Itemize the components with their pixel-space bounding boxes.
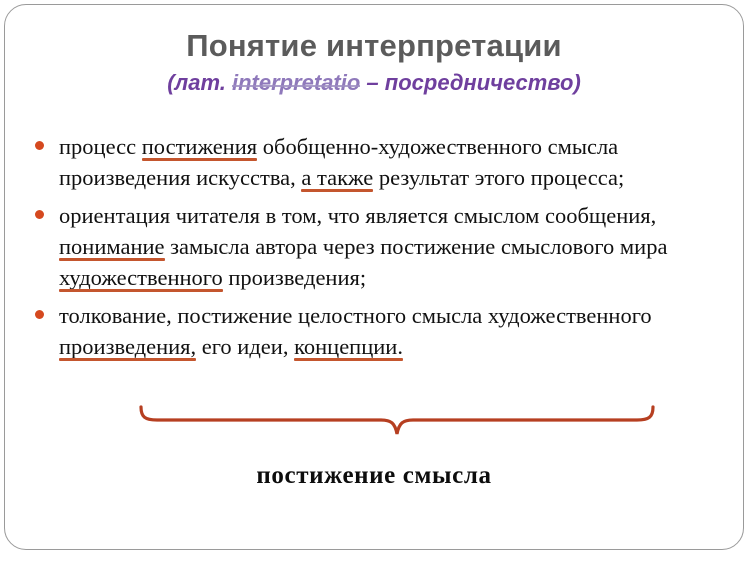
underlined-phrase: произведения, bbox=[59, 334, 196, 359]
subtitle-dash: – bbox=[360, 70, 384, 95]
round-bullet-icon bbox=[35, 141, 44, 150]
bullet-text: процесс постижения обобщенно-художествен… bbox=[59, 131, 725, 193]
slide-frame: Понятие интерпретации (лат. interpretati… bbox=[4, 4, 744, 550]
list-item: ориентация читателя в том, что является … bbox=[35, 200, 725, 293]
bullet-text: ориентация читателя в том, что является … bbox=[59, 200, 725, 293]
round-bullet-icon bbox=[35, 210, 44, 219]
title-block: Понятие интерпретации (лат. interpretati… bbox=[5, 27, 743, 98]
list-item: процесс постижения обобщенно-художествен… bbox=[35, 131, 725, 193]
underlined-phrase: художественного bbox=[59, 265, 223, 290]
subtitle-latin-term: interpretatio bbox=[232, 68, 360, 98]
subtitle-open-paren: (лат. bbox=[167, 70, 232, 95]
underlined-phrase: концепции. bbox=[294, 334, 403, 359]
text-run: ориентация читателя в том, что является … bbox=[59, 203, 656, 228]
underlined-phrase: постижения bbox=[142, 134, 257, 159]
downward-curly-brace-icon bbox=[135, 401, 659, 449]
list-item: толкование, постижение целостного смысла… bbox=[35, 300, 725, 362]
text-run: процесс bbox=[59, 134, 142, 159]
page-title: Понятие интерпретации bbox=[5, 27, 743, 65]
underlined-phrase: а также bbox=[301, 165, 373, 190]
bullet-list: процесс постижения обобщенно-художествен… bbox=[35, 131, 725, 369]
text-run: произведения; bbox=[223, 265, 366, 290]
text-run: результат этого процесса; bbox=[373, 165, 624, 190]
page-subtitle: (лат. interpretatio – посредничество) bbox=[5, 68, 743, 98]
bullet-text: толкование, постижение целостного смысла… bbox=[59, 300, 725, 362]
text-run: его идеи, bbox=[196, 334, 294, 359]
underlined-phrase: понимание bbox=[59, 234, 165, 259]
text-run: замысла автора через постижение смыслово… bbox=[165, 234, 668, 259]
round-bullet-icon bbox=[35, 310, 44, 319]
subtitle-translation: посредничество) bbox=[385, 70, 581, 95]
text-run: толкование, постижение целостного смысла… bbox=[59, 303, 652, 328]
conclusion-text: постижение смысла bbox=[5, 460, 743, 492]
